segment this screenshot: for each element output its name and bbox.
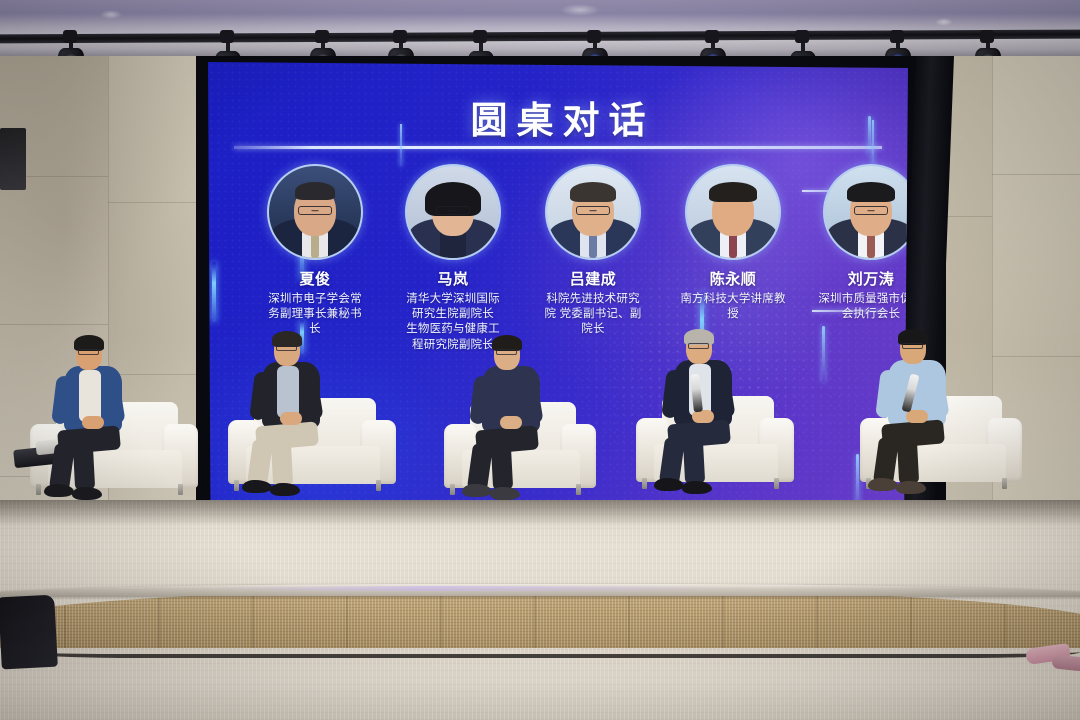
ceiling-highlight (560, 4, 600, 16)
panelist-shirt (277, 366, 299, 418)
panelist-shoe (242, 480, 272, 493)
panelist-shoe (682, 481, 712, 494)
panelist-shoe (72, 487, 102, 500)
panelist-name: 夏俊 (252, 268, 378, 289)
panelist-affiliation-line: 科院先进技术研究 (534, 292, 652, 307)
panelist-affiliation-line: 清华大学深圳国际 (394, 292, 512, 307)
truss-clamp (795, 30, 809, 43)
panelist-shoe (868, 478, 898, 491)
panelist-affiliation-line: 务副理事长兼秘书 (256, 307, 374, 322)
screen-panelist-card: 刘万涛深圳市质量强市促进会执行会长 (808, 164, 908, 322)
truss-clamp (315, 30, 329, 43)
panelist-leg (683, 438, 705, 485)
panelist-seat-5 (860, 326, 1052, 526)
panelist-affiliation: 南方科技大学讲席教授 (670, 292, 796, 322)
panelist-name: 马岚 (390, 268, 516, 289)
panelist-portrait (823, 164, 908, 260)
armchair-leg (576, 484, 581, 495)
wall-seam (992, 174, 1080, 175)
truss-clamp (63, 30, 77, 43)
screen-panelist-card: 夏俊深圳市电子学会常务副理事长兼秘书长 (252, 164, 378, 338)
armchair-leg (1002, 478, 1007, 489)
auditorium-floor (0, 648, 1080, 720)
panelist-name: 陈永顺 (670, 268, 796, 289)
screen-title: 圆桌对话 (208, 90, 908, 144)
panelist-affiliation-line: 深圳市质量强市促进 (812, 292, 908, 307)
truss-clamp (705, 30, 719, 43)
carpet-texture (0, 648, 1080, 720)
panelist-seat-1 (30, 332, 228, 532)
panelist-seat-4 (636, 326, 824, 526)
armchair-leg (234, 480, 239, 491)
panelist-shoe (490, 487, 520, 500)
panelist-glasses-icon (496, 349, 517, 355)
ceiling-highlight (100, 10, 122, 19)
panelist-seat-3 (444, 332, 626, 532)
ceiling-highlight (935, 18, 953, 26)
panelist-leg (491, 444, 513, 491)
panelist-portrait (685, 164, 781, 260)
armchair-leg (178, 484, 183, 495)
armchair-leg (642, 478, 647, 489)
armchair-leg (774, 478, 779, 489)
truss-clamp (890, 30, 904, 43)
truss-clamp (220, 30, 234, 43)
panelist-name: 吕建成 (530, 268, 656, 289)
panelist-hand (906, 410, 928, 423)
floor-cable (20, 652, 1080, 658)
panelist-glasses-icon (688, 343, 709, 349)
panelist-affiliation-line: 研究生院副院长 (394, 307, 512, 322)
conference-stage-photo: 圆桌对话 夏俊深圳市电子学会常务副理事长兼秘书长马岚清华大学深圳国际研究生院副院… (0, 0, 1080, 720)
truss-clamp (393, 30, 407, 43)
panelist-name: 刘万涛 (808, 268, 908, 289)
panelist-glasses-icon (276, 345, 297, 351)
screen-accent-bar (868, 116, 871, 156)
panelist-shirt (79, 370, 101, 422)
panelist-shirt (497, 370, 519, 422)
panelist-glasses-icon (902, 343, 923, 349)
panelist-shoe (44, 484, 74, 497)
panelist-hand (82, 416, 104, 429)
panelist-portrait (545, 164, 641, 260)
panelist-leg (897, 438, 919, 485)
panelist-glasses-icon (78, 349, 99, 355)
screen-panelist-card: 陈永顺南方科技大学讲席教授 (670, 164, 796, 322)
panelist-affiliation-line: 会执行会长 (812, 307, 908, 322)
panelist-leg (73, 444, 95, 491)
panelist-affiliation-line: 深圳市电子学会常 (256, 292, 374, 307)
panelist-shoe (462, 484, 492, 497)
screen-panelist-card: 吕建成科院先进技术研究院 党委副书记、副院长 (530, 164, 656, 338)
panelist-shoe (270, 483, 300, 496)
truss-clamp (980, 30, 994, 43)
panelist-shoe (896, 481, 926, 494)
divider-tick (400, 124, 402, 166)
stage-edge-glow (200, 586, 760, 591)
panelist-affiliation: 深圳市质量强市促进会执行会长 (808, 292, 908, 322)
panelist-seat-2 (228, 328, 426, 528)
title-divider (234, 146, 882, 149)
panelist-portrait (405, 164, 501, 260)
armchair-leg (36, 484, 41, 495)
panelist-affiliation-line: 南方科技大学讲席教 (674, 292, 792, 307)
panelist-hand (500, 416, 522, 429)
panelist-affiliation-line: 院 党委副书记、副 (534, 307, 652, 322)
floor-speaker-case (0, 595, 58, 670)
truss-clamp (473, 30, 487, 43)
armchair-leg (450, 484, 455, 495)
screen-panelist-card: 马岚清华大学深圳国际研究生院副院长生物医药与健康工程研究院副院长 (390, 164, 516, 353)
panelist-hand (280, 412, 302, 425)
panelist-shoe (654, 478, 684, 491)
armchair-leg (376, 480, 381, 491)
truss-clamp (587, 30, 601, 43)
panelist-portrait (267, 164, 363, 260)
panelist-affiliation-line: 授 (674, 307, 792, 322)
panelist-leg (271, 440, 293, 487)
divider-tick (872, 120, 874, 166)
